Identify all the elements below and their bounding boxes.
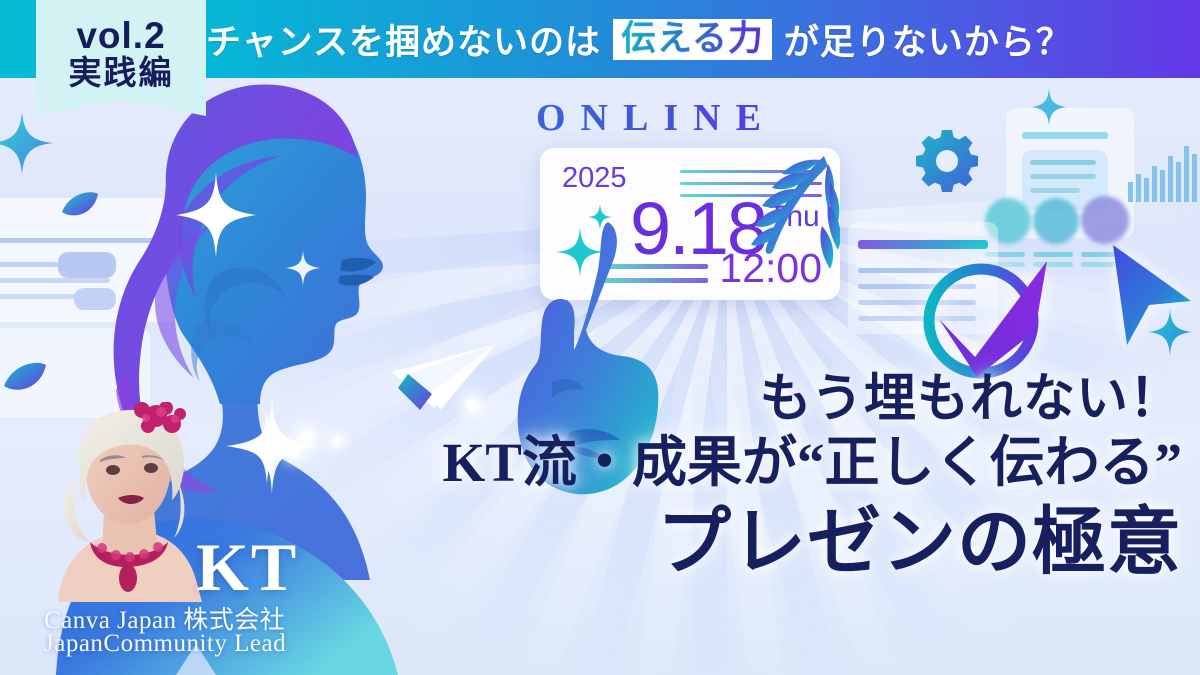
bg-line [1022,132,1108,139]
speaker-block: KT Canva Japan 株式会社 JapanCommunity Lead [0,408,430,675]
speaker-portrait-image [28,402,224,602]
event-year: 2025 [562,162,627,195]
palm-leaf-icon [728,152,840,272]
bar-chart-icon [1128,140,1200,202]
banner-text-after: が足りないから？ [784,14,1072,65]
speaker-role: JapanCommunity Lead [44,630,286,658]
glow-dot [288,446,300,458]
banner-highlight-box: 伝える力 [613,19,772,60]
speaker-initials: KT [196,528,298,607]
headline-line-2: KT流・成果が“正しく伝わる” [443,430,1182,496]
gear-icon [915,128,979,192]
check-circle-icon [915,245,1055,385]
banner-text-before: チャンスを掴めないのは [206,14,601,65]
edition-label: 実践編 [69,55,174,91]
bg-circle [1081,196,1129,244]
cursor-arrow-icon [1105,245,1195,350]
banner-highlight-text: 伝える力 [621,19,764,58]
volume-number: vol.2 [76,17,165,55]
poster-canvas: ONLINE 2025 9.18 Thu 12:00 [0,0,1200,675]
sparkle-icon [0,112,54,174]
bg-line [1030,160,1096,165]
online-label: ONLINE [536,96,776,140]
volume-badge: vol.2 実践編 [36,0,206,116]
glow-dot [332,436,342,446]
headline-block: もう埋もれない！ KT流・成果が“正しく伝わる” プレゼンの極意 [443,370,1182,586]
banner-text: チャンスを掴めないのは 伝える力 が足りないから？ [206,0,1072,78]
headline-line-1: もう埋もれない！ [443,370,1182,428]
bg-line [1030,188,1080,193]
bg-circle [1033,198,1079,244]
headline-line-3: プレゼンの極意 [443,498,1182,585]
bg-line [1030,174,1096,179]
